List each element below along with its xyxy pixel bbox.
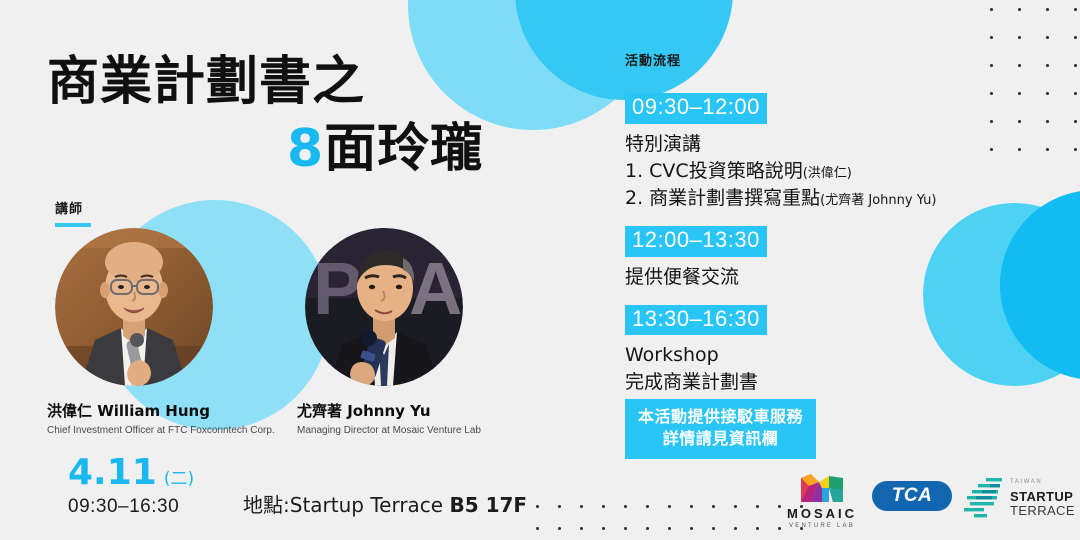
speaker-photo-2: P A (305, 228, 463, 386)
agenda-line-text: 完成商業計劃書 (625, 371, 758, 393)
agenda-line: 完成商業計劃書 (625, 369, 985, 396)
dot (734, 527, 737, 530)
dot (602, 527, 605, 530)
dot (1046, 36, 1049, 39)
agenda-line: 2. 商業計劃書撰寫重點(尤齊著 Johnny Yu) (625, 185, 985, 212)
event-date: 4.11 (68, 455, 157, 491)
dot (990, 120, 993, 123)
startup-terrace-terrace: TERRACE (1010, 503, 1075, 518)
agenda-line: 提供便餐交流 (625, 264, 985, 291)
startup-terrace-startup: STARTUP (1010, 489, 1073, 504)
shuttle-notice-line-2: 詳情請見資訊欄 (638, 428, 803, 450)
dot (558, 505, 561, 508)
dot (668, 527, 671, 530)
agenda-line: 特別演講 (625, 131, 985, 158)
shuttle-notice: 本活動提供接駁車服務 詳情請見資訊欄 (625, 399, 816, 459)
speaker-name: 洪偉仁 William Hung (47, 400, 227, 421)
startup-terrace-bars-icon (964, 476, 1010, 518)
dot (1018, 120, 1021, 123)
agenda-line: Workshop (625, 342, 985, 369)
svg-text:A: A (409, 247, 462, 330)
dot (690, 505, 693, 508)
dot (1018, 36, 1021, 39)
dot (1046, 148, 1049, 151)
dot (1074, 92, 1077, 95)
dot (734, 505, 737, 508)
agenda-line: 1. CVC投資策略說明(洪偉仁) (625, 158, 985, 185)
speakers-label: 講師 (55, 198, 91, 227)
agenda-line-text: 1. CVC投資策略說明 (625, 160, 803, 182)
dot (990, 8, 993, 11)
mosaic-tagline: VENTURE LAB (776, 523, 868, 529)
dot (756, 505, 759, 508)
dot (1046, 8, 1049, 11)
agenda-slot: 09:30–12:00 特別演講 1. CVC投資策略說明(洪偉仁) 2. 商業… (625, 93, 985, 212)
mosaic-wordmark: MOSAIC (776, 506, 868, 521)
svg-text:P: P (313, 247, 362, 330)
avatar (55, 228, 213, 386)
dot (990, 64, 993, 67)
dot (668, 505, 671, 508)
title-number: 8 (287, 119, 324, 179)
agenda-slot-body: 特別演講 1. CVC投資策略說明(洪偉仁) 2. 商業計劃書撰寫重點(尤齊著 … (625, 131, 985, 212)
speaker-card: P A (297, 228, 477, 436)
dot (1018, 8, 1021, 11)
dot (1074, 64, 1077, 67)
dot (580, 505, 583, 508)
event-weekday: (二) (164, 464, 194, 489)
venue-label: 地點: (243, 493, 290, 517)
dot (602, 505, 605, 508)
agenda-slot: 13:30–16:30 Workshop 完成商業計劃書 (625, 305, 985, 397)
dot (580, 527, 583, 530)
venue-name: Startup Terrace (290, 493, 450, 517)
avatar: P A (305, 228, 463, 386)
dot (1074, 120, 1077, 123)
agenda-slot-time: 09:30–12:00 (625, 93, 767, 124)
tca-pill: TCA (872, 481, 952, 511)
agenda-line-text: Workshop (625, 344, 719, 366)
dot (1074, 148, 1077, 151)
startup-terrace-taiwan: TAIWAN (1010, 479, 1042, 485)
agenda-slot-body: 提供便餐交流 (625, 264, 985, 291)
dot (536, 527, 539, 530)
sponsor-logos: MOSAIC VENTURE LAB TCA (768, 470, 1068, 530)
dot (1018, 92, 1021, 95)
title-line-2-text: 面玲瓏 (324, 119, 483, 179)
agenda-line-text: 2. 商業計劃書撰寫重點 (625, 187, 820, 209)
speakers-label-rule (55, 223, 91, 227)
agenda-slot-time: 12:00–13:30 (625, 226, 767, 257)
dot (1046, 64, 1049, 67)
page-title: 商業計劃書之 8面玲瓏 (47, 55, 567, 176)
agenda-line-sub: (洪偉仁) (803, 166, 852, 181)
mosaic-m-icon (797, 472, 847, 504)
agenda-line-text: 提供便餐交流 (625, 266, 739, 288)
agenda-slot-time: 13:30–16:30 (625, 305, 767, 336)
speaker-name: 尤齊著 Johnny Yu (297, 400, 477, 421)
dot (690, 527, 693, 530)
logo-mosaic: MOSAIC VENTURE LAB (776, 472, 868, 529)
logo-tca: TCA (872, 481, 952, 511)
title-line-2: 8面玲瓏 (47, 122, 567, 177)
dot (712, 505, 715, 508)
agenda-heading-text: 活動流程 (625, 50, 985, 69)
dot (1074, 36, 1077, 39)
speakers-list: 洪偉仁 William Hung Chief Investment Office… (47, 228, 547, 436)
dot (646, 527, 649, 530)
agenda-line-sub: (尤齊著 Johnny Yu) (820, 193, 936, 208)
dot (1046, 92, 1049, 95)
dot (990, 92, 993, 95)
dot (1018, 64, 1021, 67)
speaker-role: Managing Director at Mosaic Venture Lab (297, 425, 477, 436)
dot (624, 505, 627, 508)
tca-wordmark: TCA (892, 485, 933, 507)
event-date-block: 4.11(二) 09:30–16:30 (68, 455, 194, 518)
agenda-slot-body: Workshop 完成商業計劃書 (625, 342, 985, 396)
title-line-1: 商業計劃書之 (47, 55, 567, 110)
speaker-photo-1 (55, 228, 213, 386)
agenda-heading-rule (625, 75, 661, 79)
dot (756, 527, 759, 530)
dot (536, 505, 539, 508)
agenda-heading: 活動流程 (625, 50, 985, 79)
dot (990, 36, 993, 39)
event-time-range: 09:30–16:30 (68, 496, 194, 518)
event-venue: 地點:Startup Terrace B5 17F (243, 489, 527, 518)
dot (624, 527, 627, 530)
speakers-label-text: 講師 (55, 198, 91, 217)
dot (990, 148, 993, 151)
venue-floor: B5 17F (449, 493, 527, 517)
event-poster: 商業計劃書之 8面玲瓏 講師 (0, 0, 1080, 540)
dot (1046, 120, 1049, 123)
dot (1018, 148, 1021, 151)
dot (558, 527, 561, 530)
agenda-slot: 12:00–13:30 提供便餐交流 (625, 226, 985, 291)
speaker-card: 洪偉仁 William Hung Chief Investment Office… (47, 228, 227, 436)
agenda-line-text: 特別演講 (625, 133, 701, 155)
speaker-role: Chief Investment Officer at FTC Foxconnt… (47, 425, 227, 436)
dot (646, 505, 649, 508)
dot (1074, 8, 1077, 11)
agenda-section: 活動流程 09:30–12:00 特別演講 1. CVC投資策略說明(洪偉仁) … (625, 50, 985, 396)
dot (712, 527, 715, 530)
shuttle-notice-line-1: 本活動提供接駁車服務 (638, 406, 803, 428)
